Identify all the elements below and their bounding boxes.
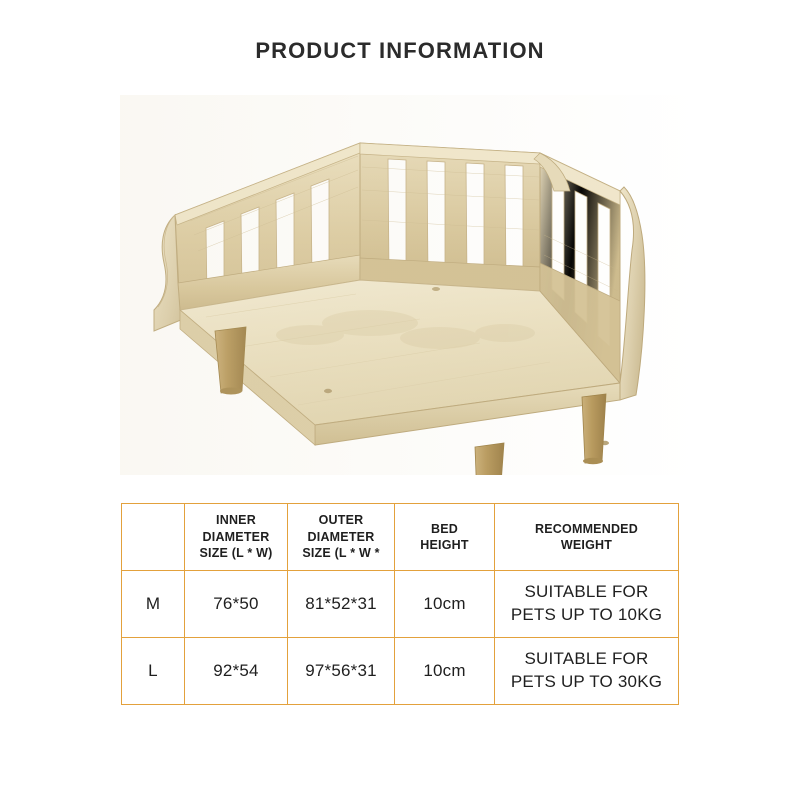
header-inner-diameter: INNER DIAMETER SIZE (L * W): [185, 504, 288, 571]
cell-size: L: [122, 638, 185, 705]
screw-hole: [324, 389, 332, 393]
weight-line: SUITABLE FOR: [498, 648, 675, 671]
header-recommended-weight: RECOMMENDED WEIGHT: [495, 504, 679, 571]
cell-bed-height: 10cm: [395, 571, 495, 638]
product-image: [120, 95, 700, 475]
header-outer-diameter: OUTER DIAMETER SIZE (L * W *: [288, 504, 395, 571]
cell-outer-diameter: 97*56*31: [288, 638, 395, 705]
screw-hole: [432, 287, 440, 291]
cell-recommended-weight: SUITABLE FOR PETS UP TO 30KG: [495, 638, 679, 705]
header-line: SIZE (L * W): [188, 545, 284, 562]
leg-back-right: [582, 394, 606, 463]
product-specification-table: INNER DIAMETER SIZE (L * W) OUTER DIAMET…: [121, 503, 679, 705]
table-row: M 76*50 81*52*31 10cm SUITABLE FOR PETS …: [122, 571, 679, 638]
spec-table-container: INNER DIAMETER SIZE (L * W) OUTER DIAMET…: [121, 503, 678, 705]
table-header-row: INNER DIAMETER SIZE (L * W) OUTER DIAMET…: [122, 504, 679, 571]
cell-size: M: [122, 571, 185, 638]
leg-front-right: [475, 443, 504, 475]
back-rail-right: [360, 143, 540, 291]
weight-line: PETS UP TO 10KG: [498, 604, 675, 627]
weight-line: SUITABLE FOR: [498, 581, 675, 604]
header-line: SIZE (L * W *: [291, 545, 391, 562]
header-line: OUTER: [291, 512, 391, 529]
header-line: WEIGHT: [498, 537, 675, 554]
header-bed-height: BED HEIGHT: [395, 504, 495, 571]
page-title: PRODUCT INFORMATION: [0, 38, 800, 64]
header-line: RECOMMENDED: [498, 521, 675, 538]
right-corner-scroll: [620, 187, 645, 400]
header-line: HEIGHT: [398, 537, 491, 554]
header-line: BED: [398, 521, 491, 538]
weight-line: PETS UP TO 30KG: [498, 671, 675, 694]
cell-inner-diameter: 76*50: [185, 571, 288, 638]
cell-bed-height: 10cm: [395, 638, 495, 705]
header-line: DIAMETER: [291, 529, 391, 546]
cell-recommended-weight: SUITABLE FOR PETS UP TO 10KG: [495, 571, 679, 638]
header-line: DIAMETER: [188, 529, 284, 546]
cell-inner-diameter: 92*54: [185, 638, 288, 705]
cell-outer-diameter: 81*52*31: [288, 571, 395, 638]
header-size: [122, 504, 185, 571]
table-row: L 92*54 97*56*31 10cm SUITABLE FOR PETS …: [122, 638, 679, 705]
leg-front-left: [215, 327, 246, 393]
header-line: INNER: [188, 512, 284, 529]
